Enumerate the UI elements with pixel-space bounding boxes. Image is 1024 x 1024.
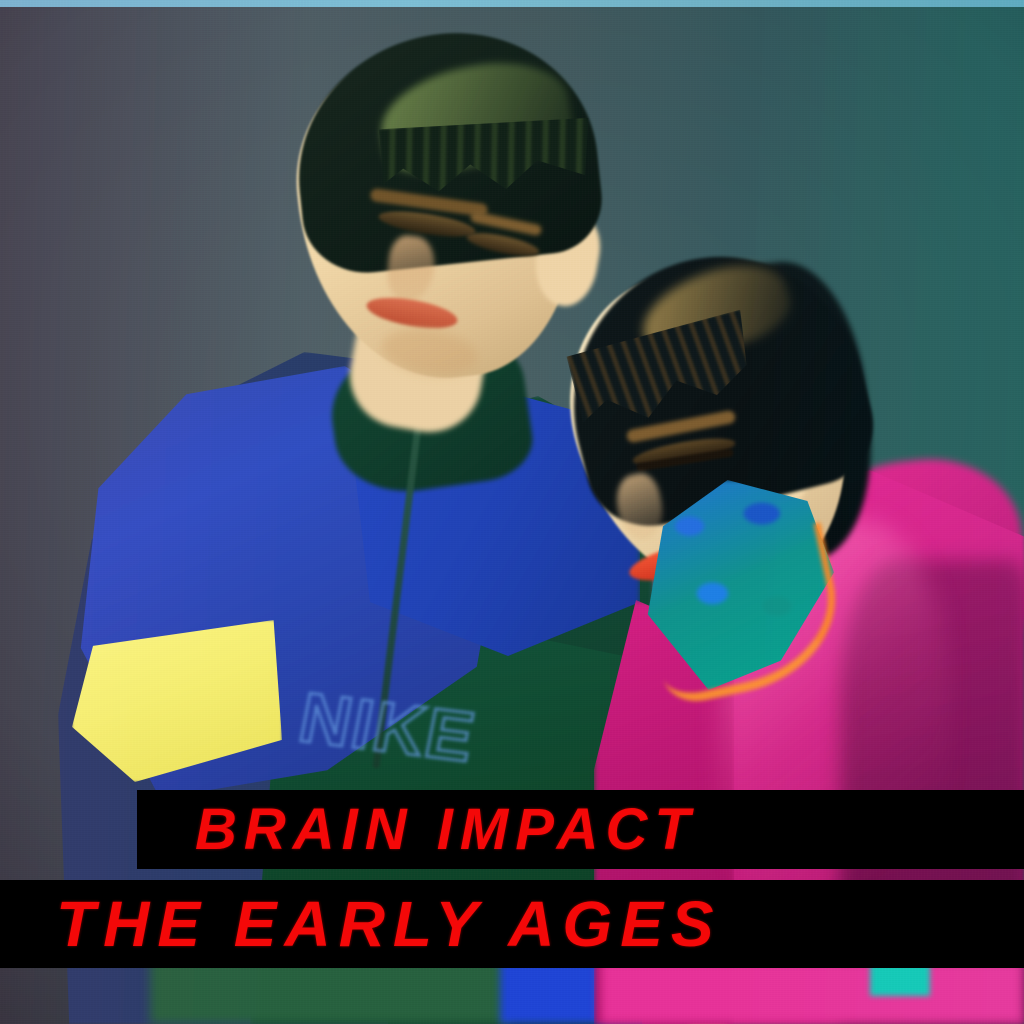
album-subtitle: THE EARLY AGES	[56, 887, 722, 961]
subtitle-bar: THE EARLY AGES	[0, 880, 1024, 968]
album-title: BRAIN IMPACT	[195, 796, 697, 863]
figure-woman	[540, 0, 1024, 1024]
title-bar: BRAIN IMPACT	[137, 790, 1024, 869]
woman-lower-pink-detail	[600, 960, 1024, 1024]
album-cover: NIKE	[0, 0, 1024, 1024]
